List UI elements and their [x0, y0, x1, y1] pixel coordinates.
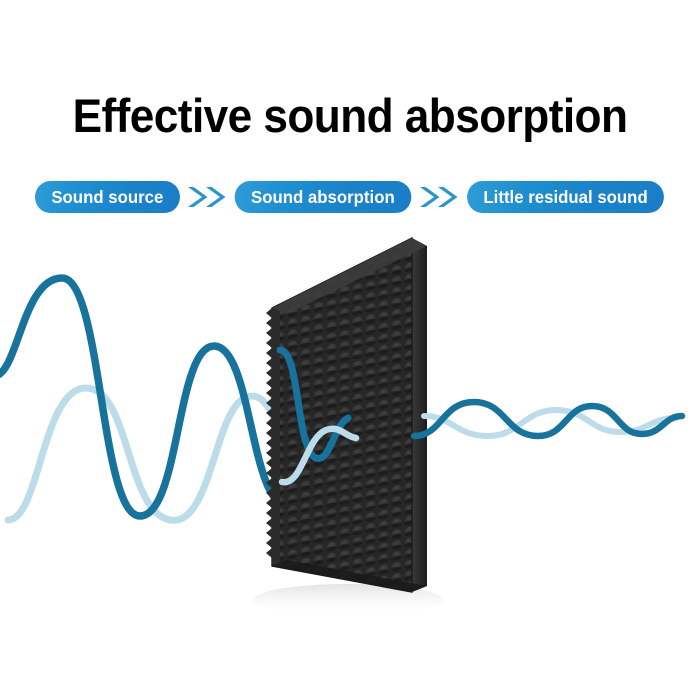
page-title: Effective sound absorption: [21, 88, 679, 144]
sound-wave-front-group: [0, 220, 700, 640]
double-chevron-right-icon: [183, 182, 231, 212]
flow-step-little-residual-sound[interactable]: Little residual sound: [467, 181, 664, 213]
residual-sound-wave-path: [414, 402, 682, 436]
flow-step-sound-source[interactable]: Sound source: [35, 181, 180, 213]
double-chevron-right-icon-2: [415, 182, 463, 212]
sound-absorption-illustration: [0, 220, 700, 640]
promo-banner: Effective sound absorption Sound source …: [0, 0, 700, 700]
process-flow: Sound source Sound absorption Little res…: [0, 180, 700, 214]
flow-step-sound-absorption[interactable]: Sound absorption: [235, 181, 411, 213]
